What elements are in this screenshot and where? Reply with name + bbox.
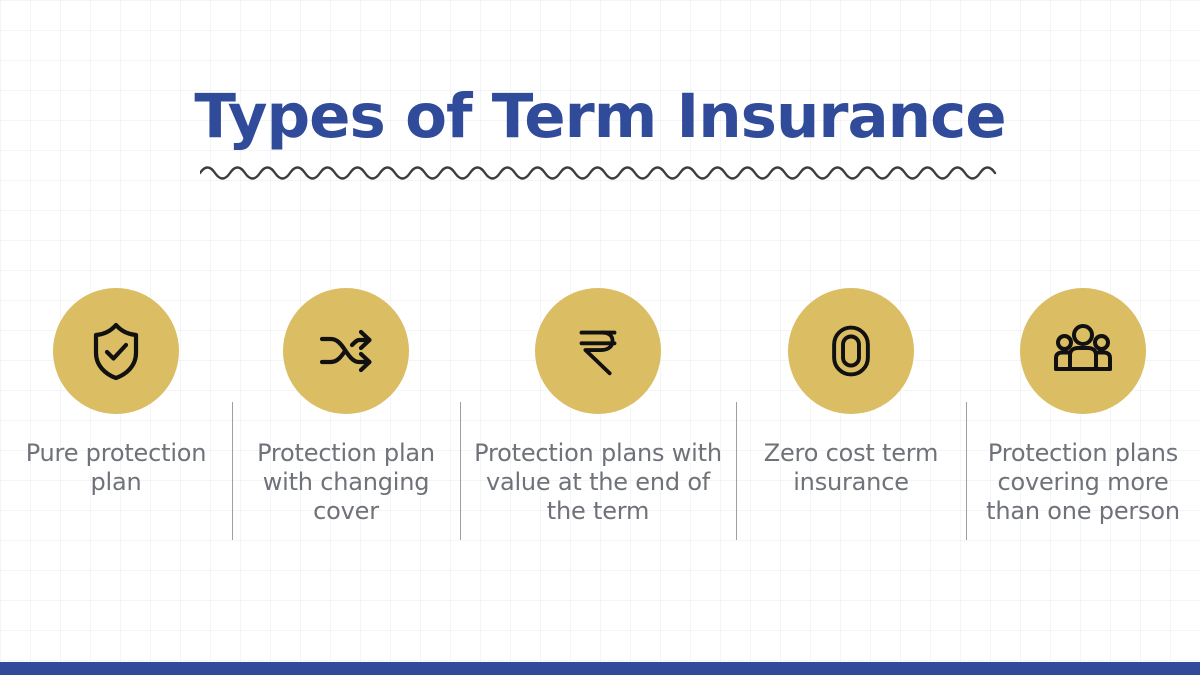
- card-label: Zero cost term insurance: [736, 439, 966, 497]
- card-value-at-end-of-term-plan[interactable]: Protection plans with value at the end o…: [460, 288, 736, 526]
- card-label: Pure protection plan: [0, 439, 232, 497]
- wavy-underline-decoration: [200, 159, 1000, 185]
- zero-digit-icon: [821, 321, 881, 381]
- bottom-accent-bar: [0, 662, 1200, 675]
- icon-circle-2: [283, 288, 409, 414]
- card-changing-cover-plan[interactable]: Protection plan with changing cover: [232, 288, 460, 526]
- card-zero-cost-term-insurance[interactable]: Zero cost term insurance: [736, 288, 966, 497]
- title-block: Types of Term Insurance: [0, 86, 1200, 185]
- icon-circle-5: [1020, 288, 1146, 414]
- page-title: Types of Term Insurance: [0, 86, 1200, 147]
- rupee-symbol-icon: [567, 320, 629, 382]
- shuffle-arrows-icon: [314, 319, 378, 383]
- infographic-canvas: Types of Term Insurance Pure protection …: [0, 0, 1200, 675]
- card-label: Protection plans with value at the end o…: [460, 439, 736, 526]
- card-pure-protection-plan[interactable]: Pure protection plan: [0, 288, 232, 497]
- term-insurance-types-row: Pure protection plan Pr: [0, 288, 1200, 548]
- group-of-people-icon: [1051, 319, 1115, 383]
- card-multi-person-plan[interactable]: Protection plans covering more than one …: [966, 288, 1200, 526]
- card-label: Protection plan with changing cover: [232, 439, 460, 526]
- shield-check-icon: [84, 319, 148, 383]
- icon-circle-3: [535, 288, 661, 414]
- icon-circle-4: [788, 288, 914, 414]
- card-label: Protection plans covering more than one …: [966, 439, 1200, 526]
- icon-circle-1: [53, 288, 179, 414]
